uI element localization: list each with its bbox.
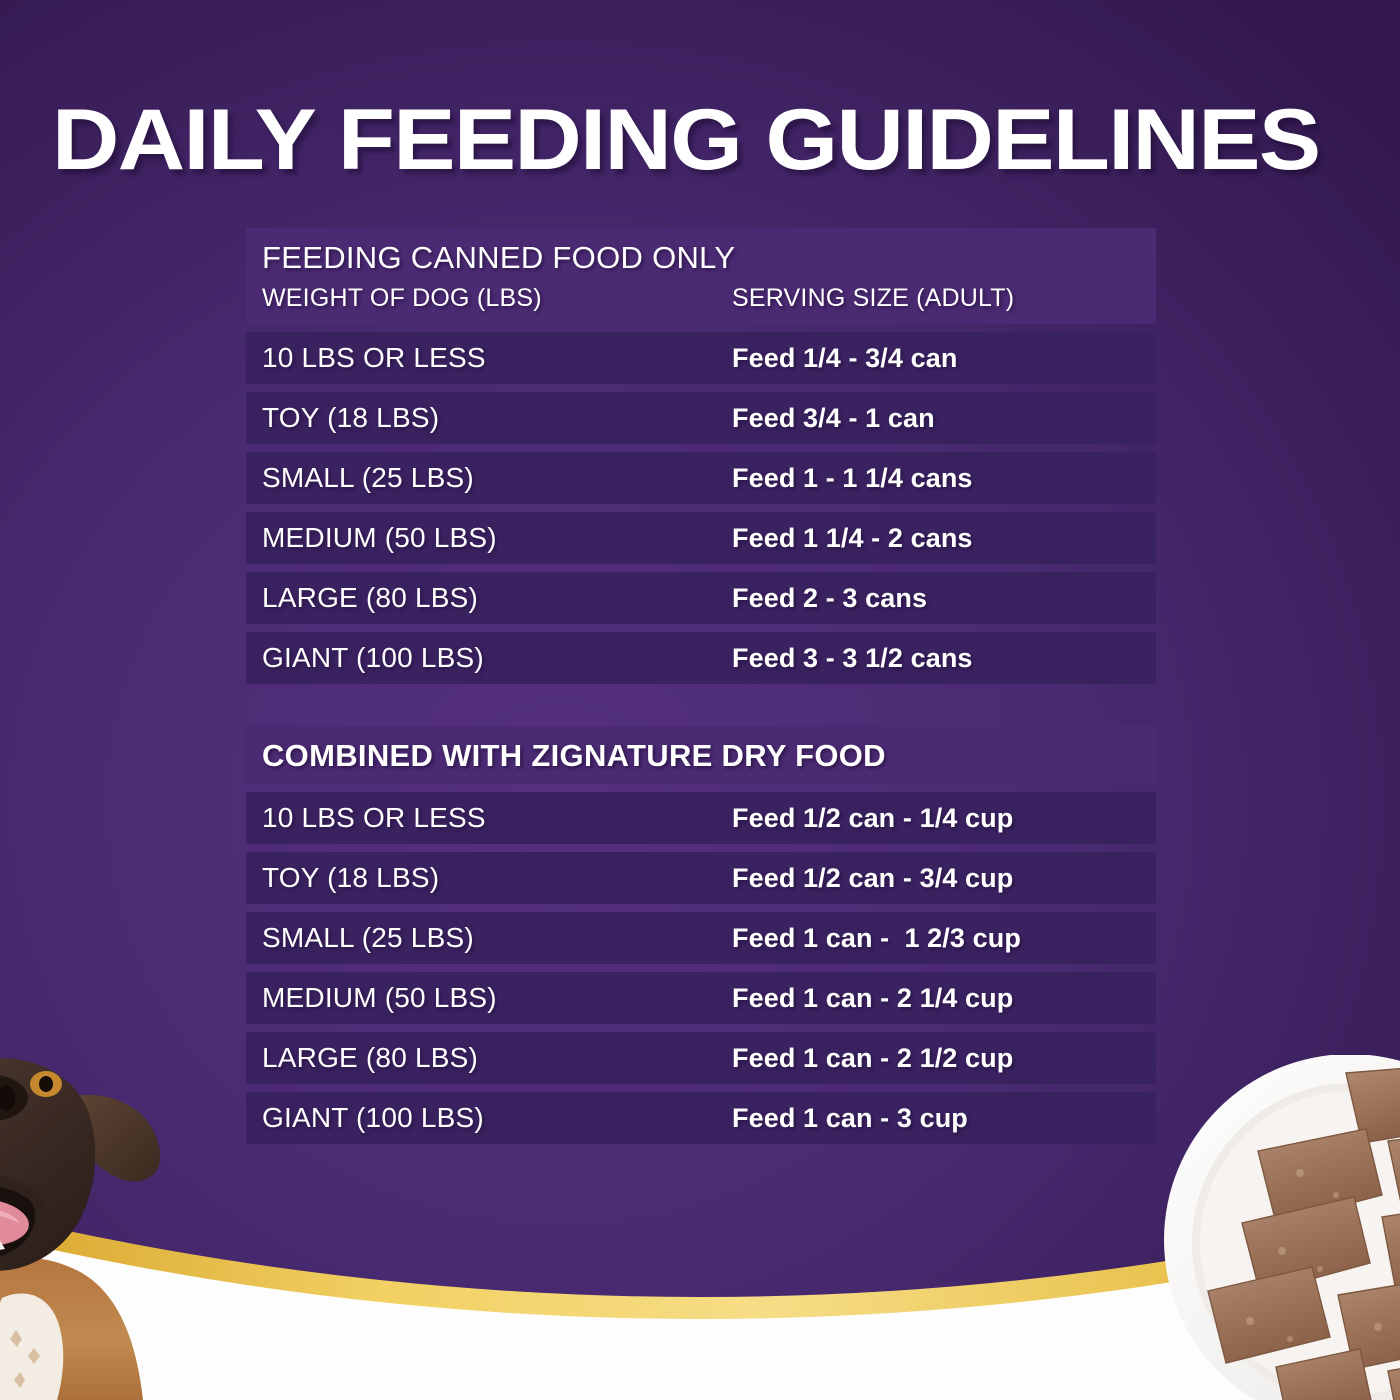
cell-serving: Feed 1 - 1 1/4 cans <box>732 461 1140 495</box>
cell-weight: 10 LBS OR LESS <box>262 801 732 835</box>
cell-serving: Feed 3/4 - 1 can <box>732 401 1140 435</box>
table-row: TOY (18 LBS) Feed 3/4 - 1 can <box>246 392 1156 444</box>
dog-photo <box>0 1030 272 1400</box>
cell-serving: Feed 1 can - 1 2/3 cup <box>732 921 1140 955</box>
cell-serving: Feed 1 can - 3 cup <box>732 1101 1140 1135</box>
cell-weight: LARGE (80 LBS) <box>262 581 732 615</box>
column-header-weight: WEIGHT OF DOG (LBS) <box>262 281 732 315</box>
cell-weight: 10 LBS OR LESS <box>262 341 732 375</box>
feeding-tables: FEEDING CANNED FOOD ONLY WEIGHT OF DOG (… <box>246 228 1156 1144</box>
cell-weight: TOY (18 LBS) <box>262 861 732 895</box>
table-row: 10 LBS OR LESS Feed 1/2 can - 1/4 cup <box>246 792 1156 844</box>
cell-weight: LARGE (80 LBS) <box>262 1041 732 1075</box>
cell-serving: Feed 1 can - 2 1/2 cup <box>732 1041 1140 1075</box>
table-row: 10 LBS OR LESS Feed 1/4 - 3/4 can <box>246 332 1156 384</box>
table-spacer <box>246 684 1156 726</box>
section-header: FEEDING CANNED FOOD ONLY WEIGHT OF DOG (… <box>246 228 1156 324</box>
table-row: MEDIUM (50 LBS) Feed 1 can - 2 1/4 cup <box>246 972 1156 1024</box>
table-row: LARGE (80 LBS) Feed 1 can - 2 1/2 cup <box>246 1032 1156 1084</box>
section-title: COMBINED WITH ZIGNATURE DRY FOOD <box>262 737 1140 775</box>
cell-weight: GIANT (100 LBS) <box>262 641 732 675</box>
cell-serving: Feed 1/4 - 3/4 can <box>732 341 1140 375</box>
table-canned-food-only: FEEDING CANNED FOOD ONLY WEIGHT OF DOG (… <box>246 228 1156 684</box>
cell-weight: SMALL (25 LBS) <box>262 461 732 495</box>
feeding-guidelines-poster: DAILY FEEDING GUIDELINES FEEDING CANNED … <box>0 0 1400 1400</box>
cell-weight: GIANT (100 LBS) <box>262 1101 732 1135</box>
cell-weight: TOY (18 LBS) <box>262 401 732 435</box>
cell-serving: Feed 1 can - 2 1/4 cup <box>732 981 1140 1015</box>
cell-serving: Feed 1 1/4 - 2 cans <box>732 521 1140 555</box>
cell-weight: SMALL (25 LBS) <box>262 921 732 955</box>
table-row: SMALL (25 LBS) Feed 1 can - 1 2/3 cup <box>246 912 1156 964</box>
section-header: COMBINED WITH ZIGNATURE DRY FOOD <box>246 726 1156 784</box>
table-row: TOY (18 LBS) Feed 1/2 can - 3/4 cup <box>246 852 1156 904</box>
table-row: GIANT (100 LBS) Feed 3 - 3 1/2 cans <box>246 632 1156 684</box>
table-row: GIANT (100 LBS) Feed 1 can - 3 cup <box>246 1092 1156 1144</box>
section-title: FEEDING CANNED FOOD ONLY <box>262 239 1140 277</box>
cell-serving: Feed 1/2 can - 1/4 cup <box>732 801 1140 835</box>
table-combined-with-dry-food: COMBINED WITH ZIGNATURE DRY FOOD 10 LBS … <box>246 726 1156 1144</box>
column-header-serving: SERVING SIZE (ADULT) <box>732 281 1140 315</box>
table-row: SMALL (25 LBS) Feed 1 - 1 1/4 cans <box>246 452 1156 504</box>
page-title: DAILY FEEDING GUIDELINES <box>52 92 1400 188</box>
cell-serving: Feed 3 - 3 1/2 cans <box>732 641 1140 675</box>
column-header-row: WEIGHT OF DOG (LBS) SERVING SIZE (ADULT) <box>262 281 1140 315</box>
cell-weight: MEDIUM (50 LBS) <box>262 521 732 555</box>
table-row: LARGE (80 LBS) Feed 2 - 3 cans <box>246 572 1156 624</box>
table-row: MEDIUM (50 LBS) Feed 1 1/4 - 2 cans <box>246 512 1156 564</box>
cell-weight: MEDIUM (50 LBS) <box>262 981 732 1015</box>
cell-serving: Feed 2 - 3 cans <box>732 581 1140 615</box>
food-bowl-photo <box>1150 1055 1400 1400</box>
cell-serving: Feed 1/2 can - 3/4 cup <box>732 861 1140 895</box>
